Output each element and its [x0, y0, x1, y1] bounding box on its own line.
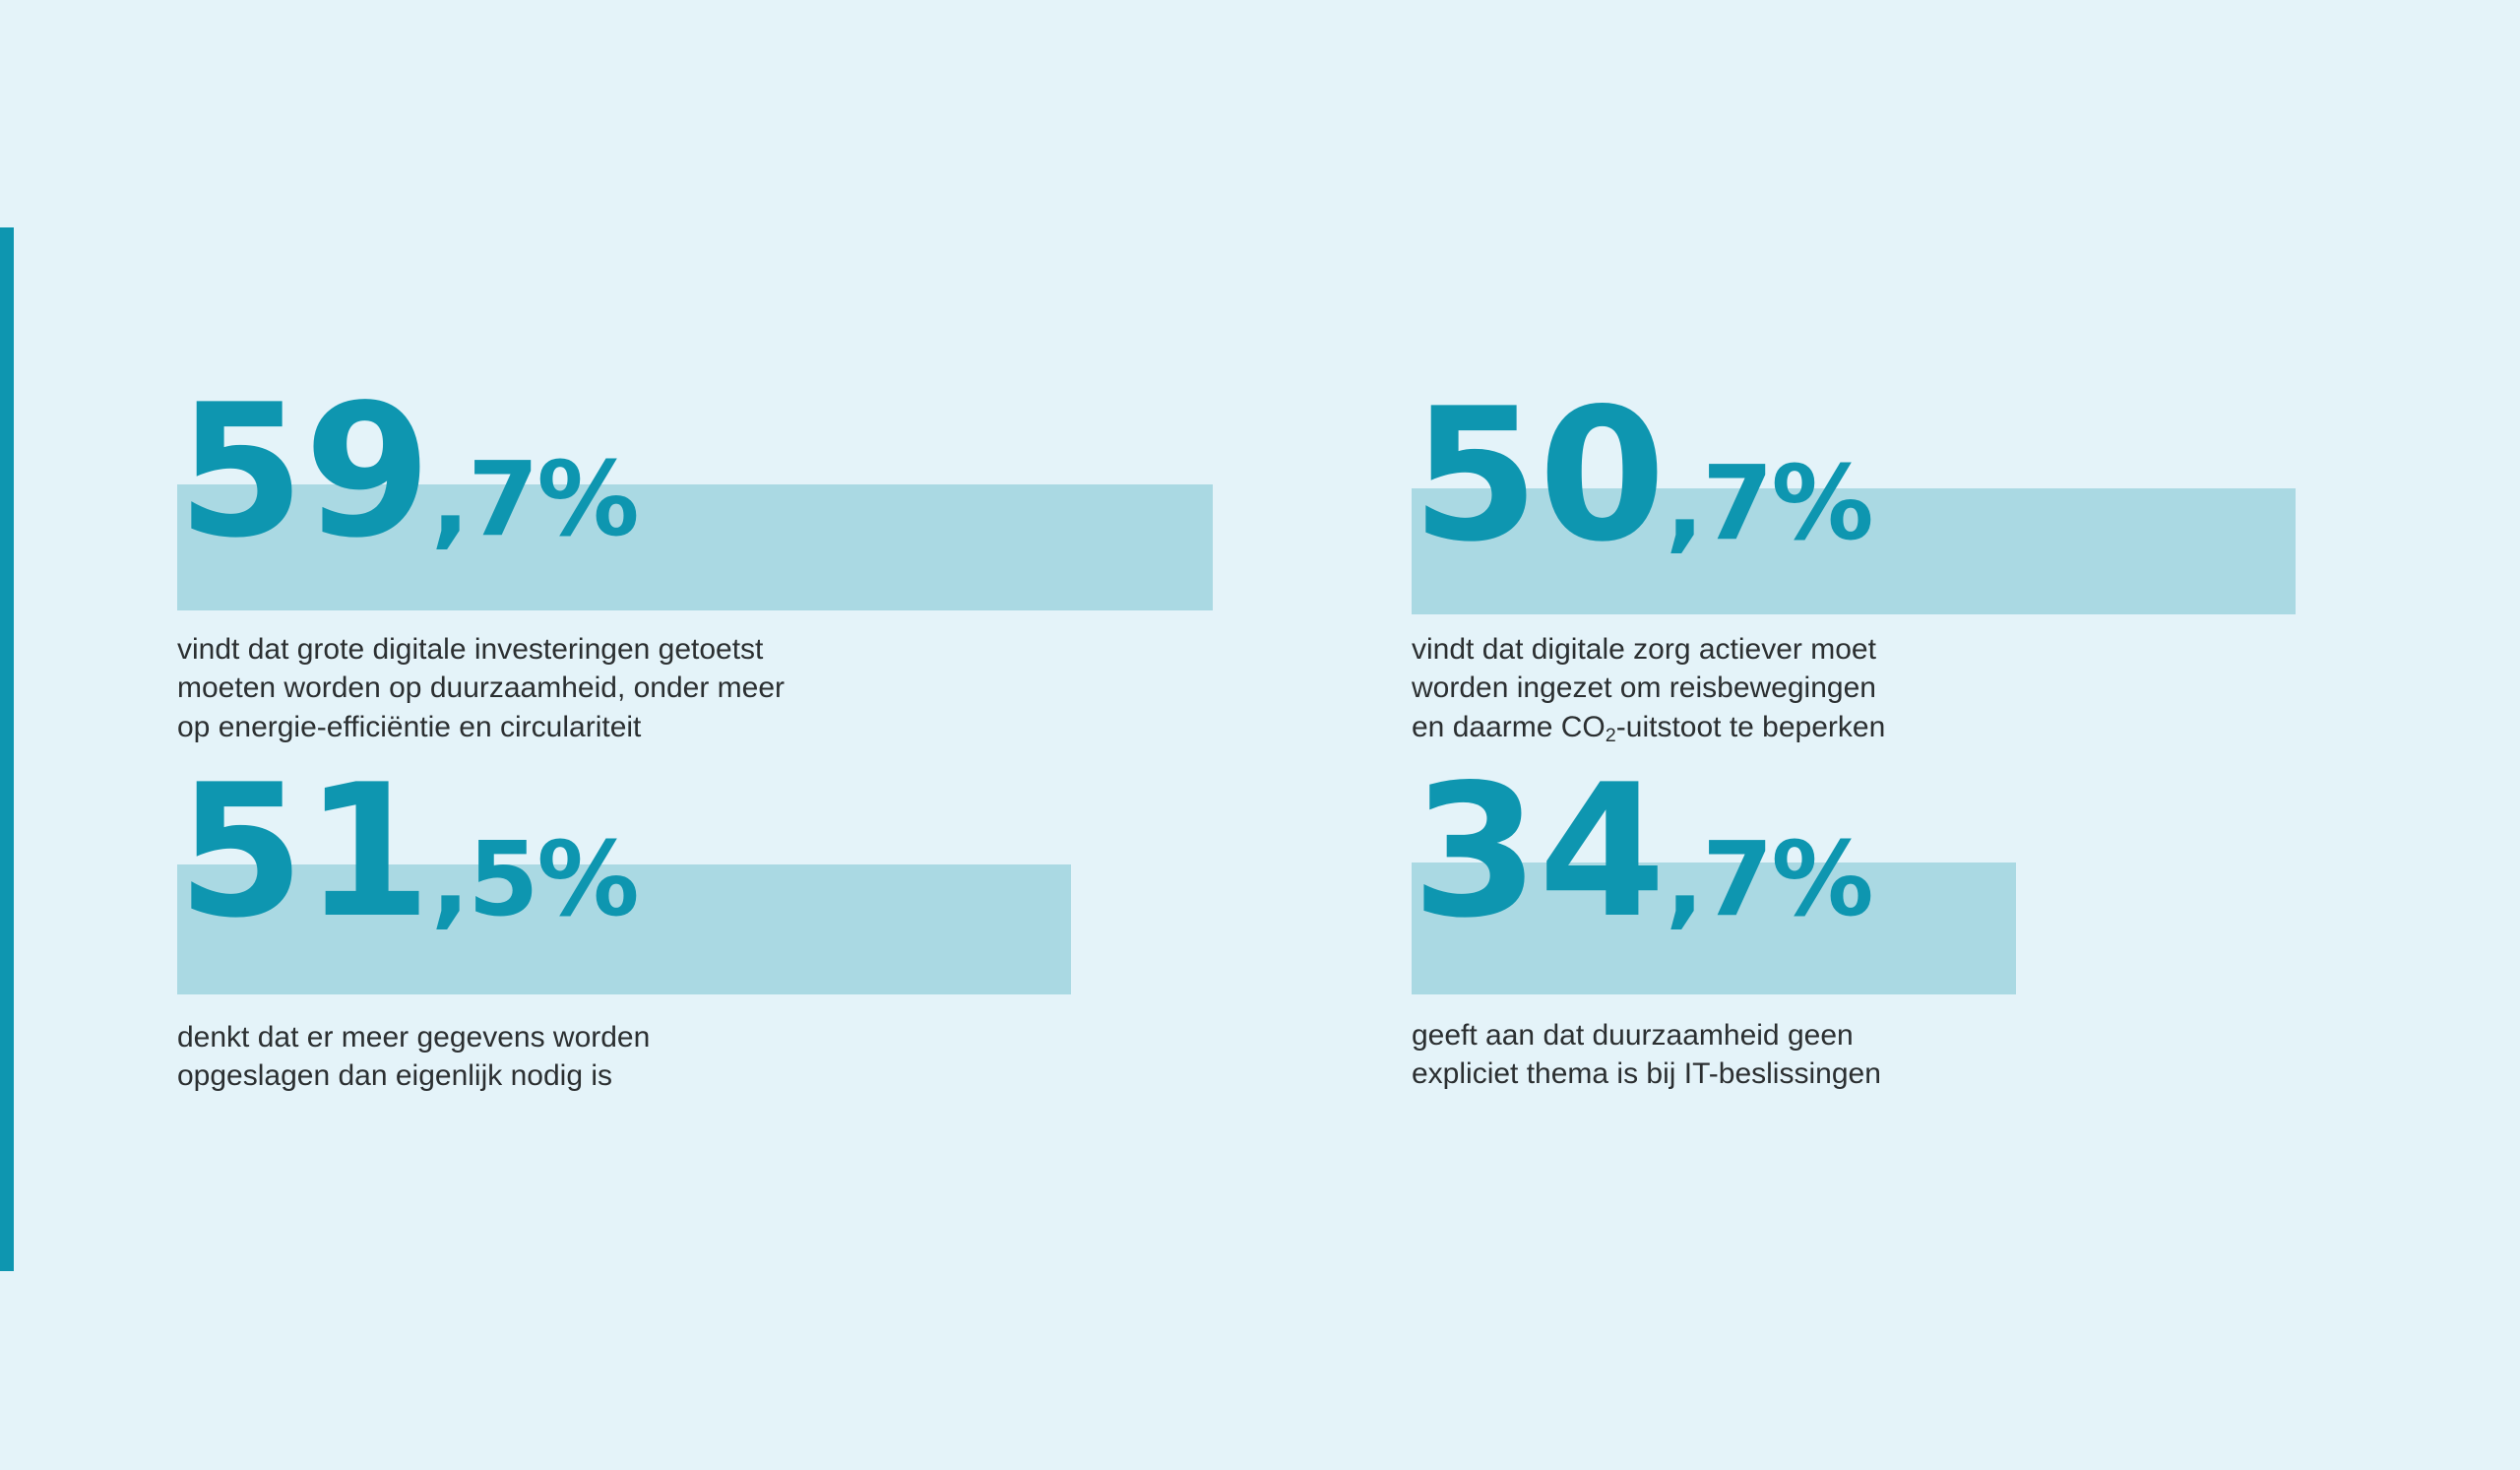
stat-value-fraction-2: ,7%: [1666, 443, 1872, 563]
stat-value-fraction-4: ,7%: [1666, 819, 1872, 939]
stat-figure-2: 50,7%: [1412, 384, 1872, 567]
stat-figure-1: 59,7%: [177, 380, 638, 563]
stat-value-whole-3: 51: [177, 744, 431, 958]
stat-value-fraction-3: ,5%: [431, 819, 638, 939]
stat-caption-3: denkt dat er meer gegevens worden opgesl…: [177, 1018, 925, 1096]
stat-block-3: 51,5% denkt dat er meer gegevens worden …: [177, 760, 638, 943]
stat-caption-2-line3-post: -uitstoot te beperken: [1616, 711, 1886, 743]
stat-caption-1: vindt dat grote digitale investeringen g…: [177, 630, 1043, 746]
stat-block-1: 59,7% vindt dat grote digitale investeri…: [177, 380, 638, 563]
stat-caption-2: vindt dat digitale zorg actiever moet wo…: [1412, 630, 2160, 746]
co2-subscript: 2: [1606, 725, 1616, 746]
statistics-grid: 59,7% vindt dat grote digitale investeri…: [0, 0, 2520, 1470]
stat-caption-2-line3-pre: en daarme CO: [1412, 711, 1606, 743]
stat-figure-4: 34,7%: [1412, 760, 1872, 943]
stat-caption-2-line2: worden ingezet om reisbewegingen: [1412, 671, 1876, 704]
stat-value-whole-2: 50: [1412, 368, 1666, 582]
stat-value-whole-4: 34: [1412, 744, 1666, 958]
stat-figure-3: 51,5%: [177, 760, 638, 943]
stat-caption-4: geeft aan dat duurzaamheid geen explicie…: [1412, 1016, 2160, 1094]
stat-value-whole-1: 59: [177, 364, 431, 578]
stat-block-4: 34,7% geeft aan dat duurzaamheid geen ex…: [1412, 760, 1872, 943]
stat-caption-2-line1: vindt dat digitale zorg actiever moet: [1412, 633, 1876, 666]
stat-value-fraction-1: ,7%: [431, 439, 638, 559]
stat-block-2: 50,7% vindt dat digitale zorg actiever m…: [1412, 384, 1872, 567]
